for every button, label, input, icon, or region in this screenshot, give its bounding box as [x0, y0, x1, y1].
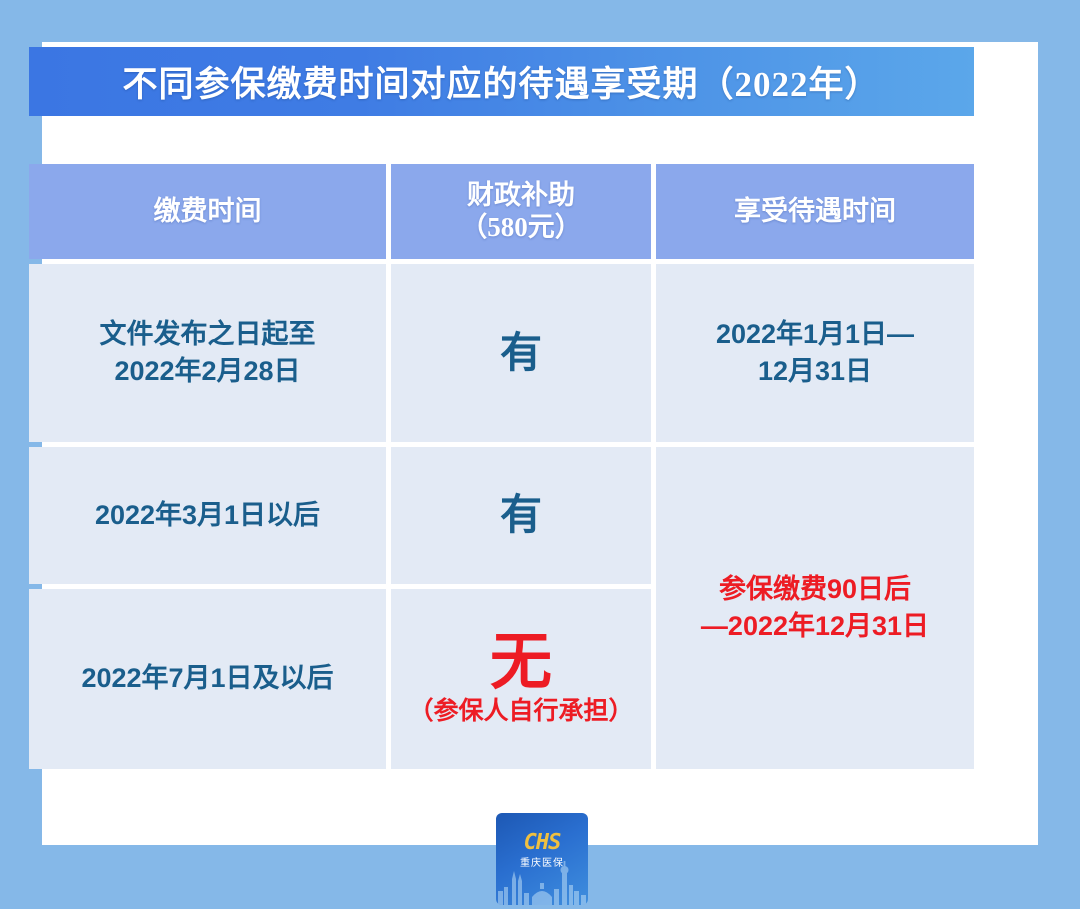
logo-subtitle: 重庆医保 — [496, 854, 588, 869]
table-row: 有 — [391, 447, 651, 584]
table-row: 2022年7月1日及以后 — [29, 589, 386, 769]
payment-time-line-2: 2022年2月28日 — [114, 353, 300, 390]
merged-benefit-line-1: 参保缴费90日后 — [719, 571, 911, 608]
merged-benefit-line-2: —2022年12月31日 — [701, 608, 929, 645]
header-line-2: （580元） — [460, 212, 582, 244]
benefit-period-line-2: 12月31日 — [758, 353, 872, 390]
benefit-period-table: 缴费时间 财政补助 （580元） 享受待遇时间 文件发布之日起至 2022年2月… — [29, 164, 974, 754]
benefit-period-line-1: 2022年1月1日— — [716, 316, 914, 353]
logo-mark-text: CHS — [496, 830, 588, 855]
header-line-1: 缴费时间 — [154, 196, 262, 228]
table-header-benefit-period: 享受待遇时间 — [656, 164, 974, 259]
subsidy-value: 有 — [500, 330, 542, 376]
table-header-fiscal-subsidy: 财政补助 （580元） — [391, 164, 651, 259]
header-line-1: 享受待遇时间 — [734, 196, 896, 228]
subsidy-note: （参保人自行承担） — [408, 696, 633, 726]
table-row: 有 — [391, 264, 651, 442]
payment-time-line-1: 文件发布之日起至 — [100, 316, 316, 353]
table-row: 文件发布之日起至 2022年2月28日 — [29, 264, 386, 442]
header-line-1: 财政补助 — [467, 180, 575, 212]
chongqing-healthcare-logo: CHS 重庆医保 — [496, 813, 588, 905]
title-banner: 不同参保缴费时间对应的待遇享受期（2022年） — [29, 47, 974, 116]
table-row: 无 （参保人自行承担） — [391, 589, 651, 769]
payment-time-line-1: 2022年3月1日以后 — [95, 497, 320, 534]
table-row: 2022年1月1日— 12月31日 — [656, 264, 974, 442]
table-header-payment-time: 缴费时间 — [29, 164, 386, 259]
page-title: 不同参保缴费时间对应的待遇享受期（2022年） — [122, 56, 880, 107]
merged-benefit-period-cell: 参保缴费90日后 —2022年12月31日 — [656, 447, 974, 769]
subsidy-value: 有 — [500, 492, 542, 538]
payment-time-line-1: 2022年7月1日及以后 — [81, 660, 333, 697]
table-row: 2022年3月1日以后 — [29, 447, 386, 584]
subsidy-value: 无 — [490, 632, 552, 694]
